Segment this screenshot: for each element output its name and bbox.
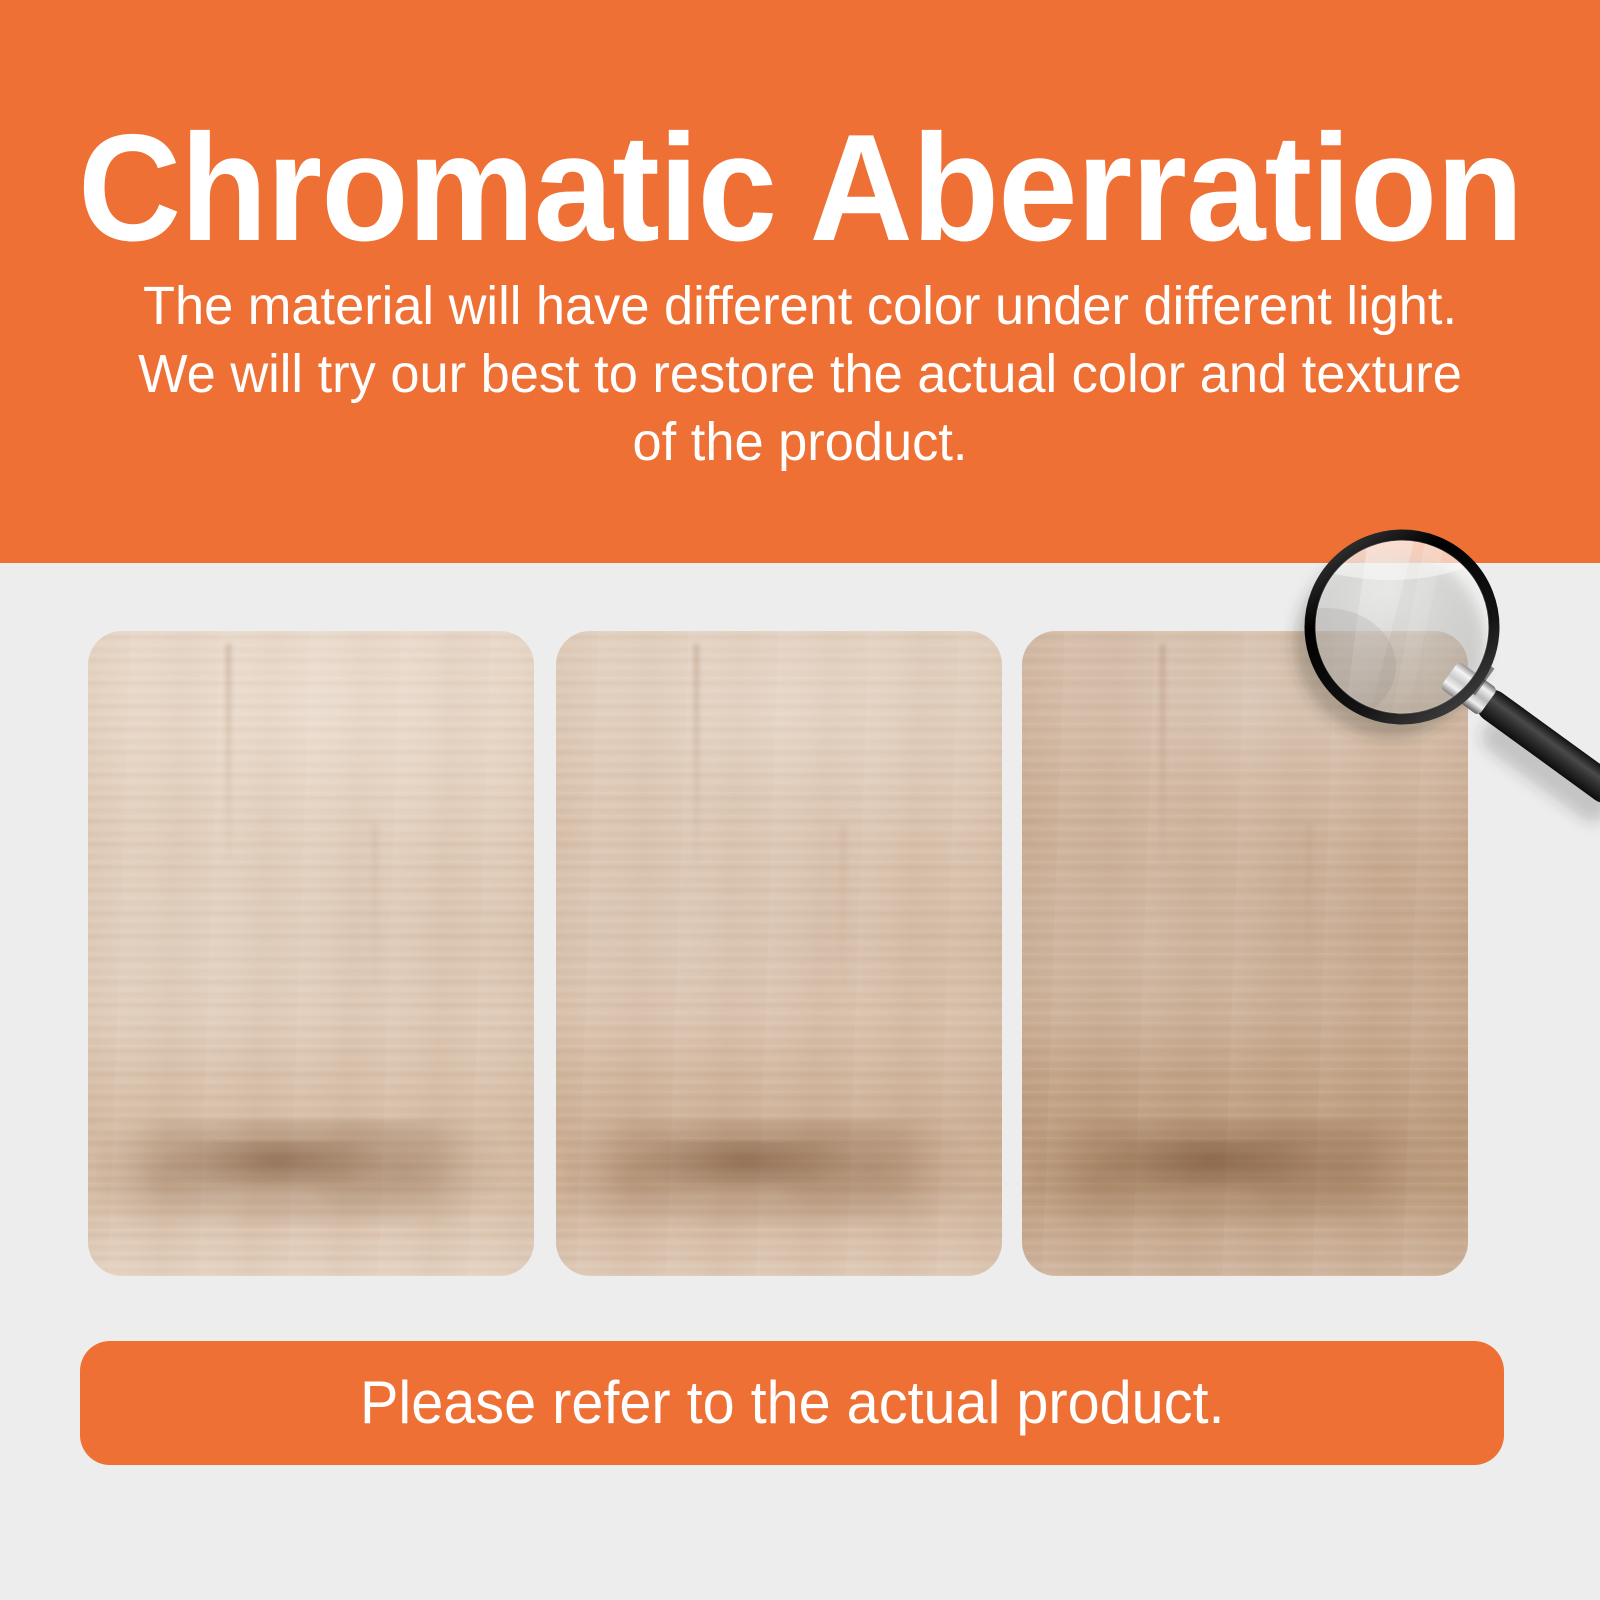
wood-texture-1 [88,631,534,1276]
header-band: Chromatic Aberration The material will h… [0,0,1600,563]
cta-label: Please refer to the actual product. [360,1373,1225,1433]
swatch-sample-1[interactable] [88,631,534,1276]
magnifier-icon[interactable] [1240,498,1600,838]
magnifier-svg [1240,498,1600,838]
wood-texture-2 [556,631,1002,1276]
wood-seam-b-1 [373,825,377,993]
wood-seam-1 [226,644,231,863]
cta-banner[interactable]: Please refer to the actual product. [80,1341,1504,1465]
wood-knot-core-2 [583,1141,868,1186]
wood-knot-core-1 [115,1141,400,1186]
page-subtitle: The material will have different color u… [111,272,1488,476]
wood-seam-b-2 [841,825,845,993]
wood-seam-3 [1160,644,1165,863]
chromatic-aberration-infographic: Chromatic Aberration The material will h… [0,0,1600,1600]
swatch-sample-2[interactable] [556,631,1002,1276]
wood-knot-core-3 [1049,1141,1334,1186]
wood-seam-2 [694,644,699,863]
wood-seam-b-3 [1307,825,1311,993]
page-title: Chromatic Aberration [78,112,1435,264]
